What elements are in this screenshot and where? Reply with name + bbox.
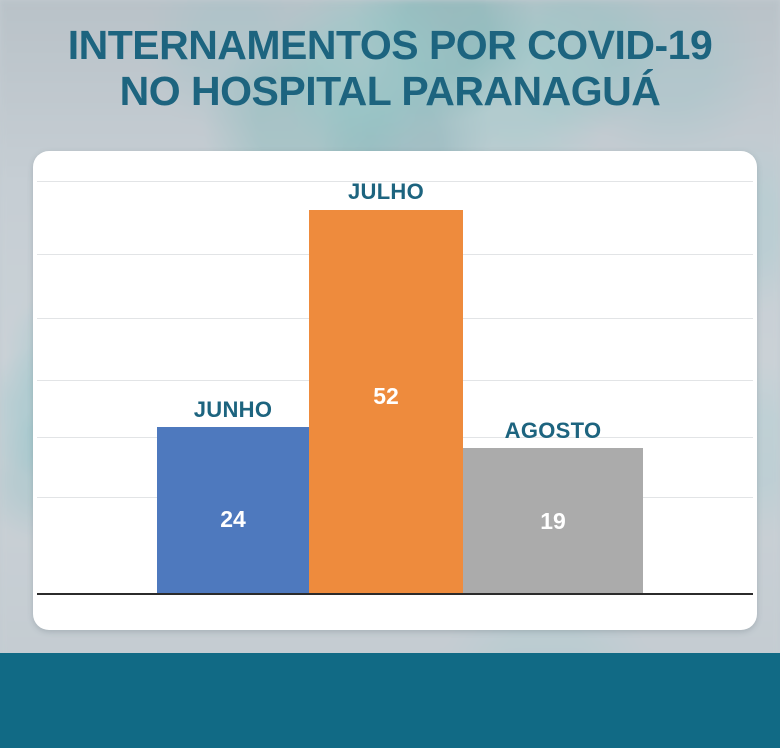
- title-line-1: INTERNAMENTOS POR COVID-19: [0, 22, 780, 68]
- bar-value-junho: 24: [157, 506, 309, 533]
- bar-label-agosto: AGOSTO: [423, 418, 683, 444]
- bar-junho[interactable]: JUNHO 24: [157, 427, 309, 593]
- plot-area: JUNHO 24 JULHO 52 AGOSTO 19: [33, 151, 757, 630]
- bar-value-julho: 52: [309, 383, 463, 410]
- title-line-2: NO HOSPITAL PARANAGUÁ: [0, 68, 780, 114]
- bar-agosto[interactable]: AGOSTO 19: [463, 448, 643, 593]
- page-title: INTERNAMENTOS POR COVID-19 NO HOSPITAL P…: [0, 22, 780, 114]
- bar-value-agosto: 19: [463, 508, 643, 535]
- axis-baseline: [37, 593, 753, 595]
- bar-julho[interactable]: JULHO 52: [309, 210, 463, 593]
- bar-label-julho: JULHO: [269, 179, 503, 205]
- chart-card: JUNHO 24 JULHO 52 AGOSTO 19: [33, 151, 757, 630]
- bottom-band: [0, 653, 780, 748]
- bars-container: JUNHO 24 JULHO 52 AGOSTO 19: [33, 151, 757, 593]
- poster-root: INTERNAMENTOS POR COVID-19 NO HOSPITAL P…: [0, 0, 780, 748]
